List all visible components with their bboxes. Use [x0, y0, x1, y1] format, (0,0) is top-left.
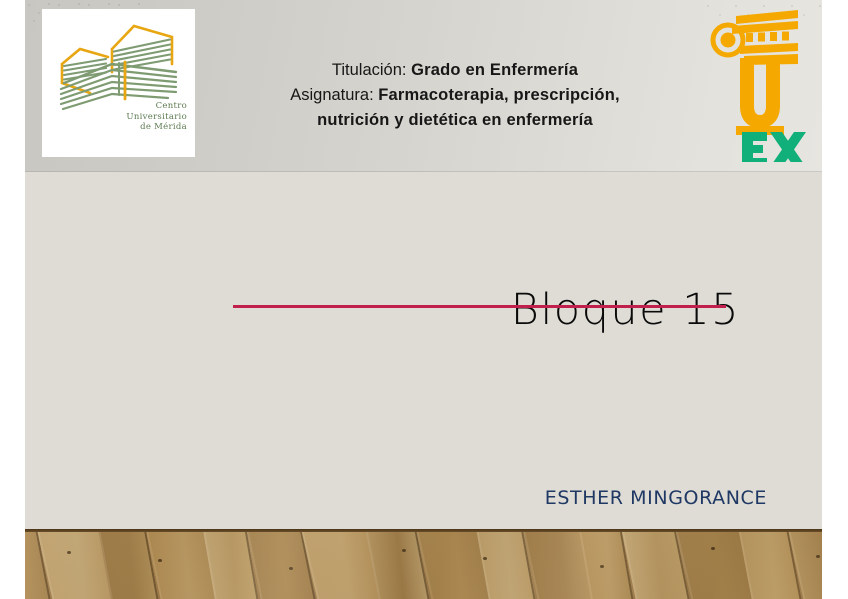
wood-knot — [816, 555, 820, 558]
course-info-line-degree: Titulación: Grado en Enfermería — [210, 58, 700, 83]
institution-logo-wordmark: Centro Universitario de Mérida — [42, 101, 187, 133]
subject-label: Asignatura: — [290, 86, 373, 104]
degree-value: Grado en Enfermería — [411, 61, 578, 79]
wood-floor-decoration — [25, 529, 822, 599]
logo-line-2: Universitario — [42, 112, 187, 123]
letter-u — [736, 58, 784, 135]
wood-knot — [289, 567, 293, 570]
wood-knot — [67, 551, 71, 554]
title-underline-rule — [233, 305, 726, 308]
column-capital-icon — [713, 10, 798, 65]
course-info-line-subject: Asignatura: Farmacoterapia, prescripción… — [210, 83, 700, 108]
letters-ex — [742, 132, 806, 162]
subject-value-continuation: nutrición y dietética en enfermería — [317, 111, 593, 129]
logo-line-3: de Mérida — [42, 122, 187, 133]
logo-line-1: Centro — [42, 101, 187, 112]
wood-planks — [25, 529, 822, 599]
degree-label: Titulación: — [332, 61, 407, 79]
course-info-line-subject-cont: nutrición y dietética en enfermería — [210, 108, 700, 133]
wood-knot — [600, 565, 604, 568]
subject-value: Farmacoterapia, prescripción, — [378, 86, 619, 104]
institution-logo: Centro Universitario de Mérida — [42, 9, 195, 157]
course-info-block: Titulación: Grado en Enfermería Asignatu… — [210, 58, 700, 133]
wood-knot — [158, 559, 162, 562]
wood-knot — [711, 547, 715, 550]
presentation-slide: Centro Universitario de Mérida Titulació… — [25, 0, 822, 599]
wood-floor-top-edge — [25, 529, 822, 532]
slide-header-band: Centro Universitario de Mérida Titulació… — [25, 0, 822, 172]
page-title: Bloque 15 — [325, 284, 740, 336]
wood-knot — [402, 549, 406, 552]
author-name: ESTHER MINGORANCE — [325, 487, 767, 509]
wood-knot — [483, 557, 487, 560]
university-logo — [710, 2, 808, 162]
